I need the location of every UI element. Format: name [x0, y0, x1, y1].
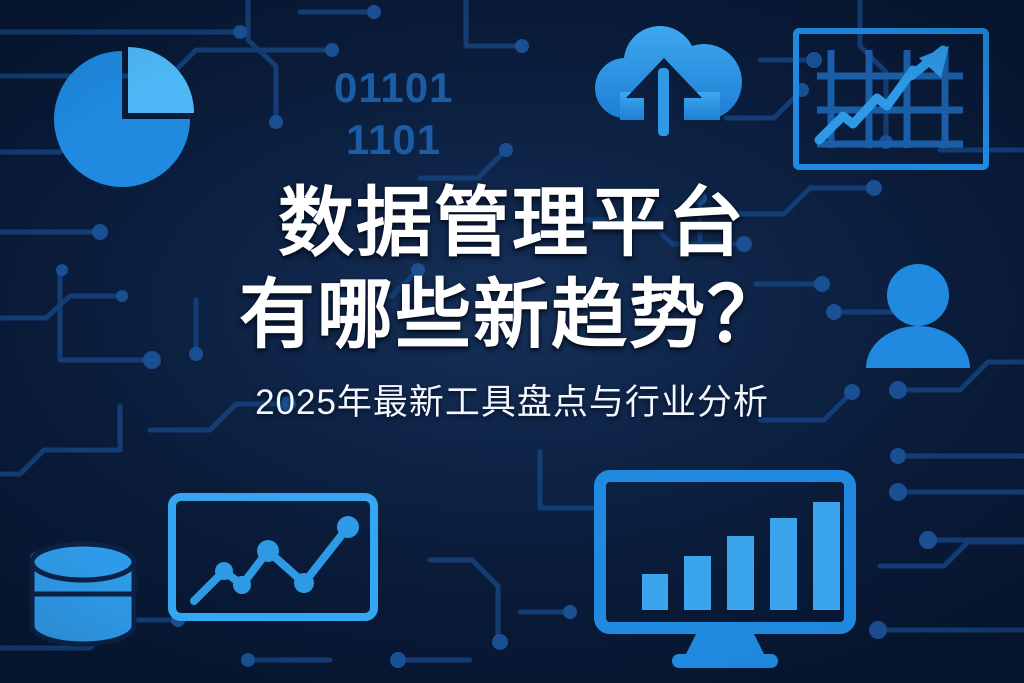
line-chart-panel-icon — [168, 493, 378, 621]
subtitle: 2025年最新工具盘点与行业分析 — [0, 382, 1024, 424]
title-block: 数据管理平台 有哪些新趋势？ 2025年最新工具盘点与行业分析 — [0, 178, 1024, 424]
monitor-bars — [642, 502, 840, 610]
heading-line-2: 有哪些新趋势？ — [0, 270, 1024, 362]
binary-decoration: 01101 1101 — [334, 62, 453, 166]
binary-line-2: 1101 — [346, 114, 453, 166]
database-icon — [24, 538, 142, 658]
poster-canvas: 01101 1101 — [0, 0, 1024, 683]
pie-chart-icon — [44, 44, 204, 194]
monitor-bar-chart-icon — [594, 470, 856, 672]
binary-line-1: 01101 — [334, 62, 453, 114]
trend-chart-icon — [793, 28, 989, 170]
heading-line-1: 数据管理平台 — [0, 178, 1024, 270]
cloud-upload-icon — [580, 22, 748, 152]
